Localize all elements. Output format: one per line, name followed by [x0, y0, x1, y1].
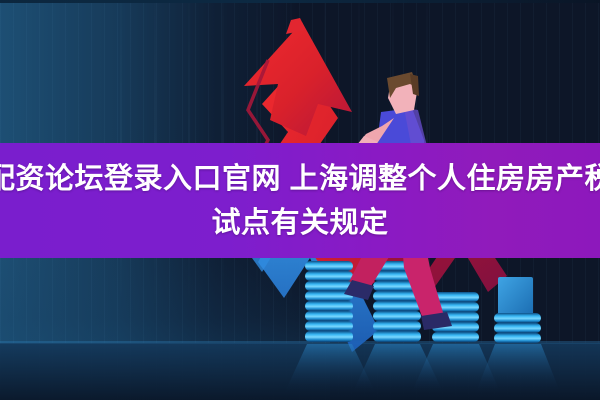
headline-text-group: 配资论坛登录入口官网 上海调整个人住房房产税 试点有关规定 [0, 143, 600, 258]
money-card [498, 277, 533, 319]
headline-line-2: 试点有关规定 [211, 203, 388, 243]
coin-stack-1 [305, 261, 353, 342]
coin-stack-4 [494, 313, 541, 343]
promo-banner: 配资论坛登录入口官网 上海调整个人住房房产税 试点有关规定 [0, 0, 600, 400]
floor-reflections [285, 344, 560, 392]
headline-line-1: 配资论坛登录入口官网 上海调整个人住房房产税 [0, 159, 600, 199]
